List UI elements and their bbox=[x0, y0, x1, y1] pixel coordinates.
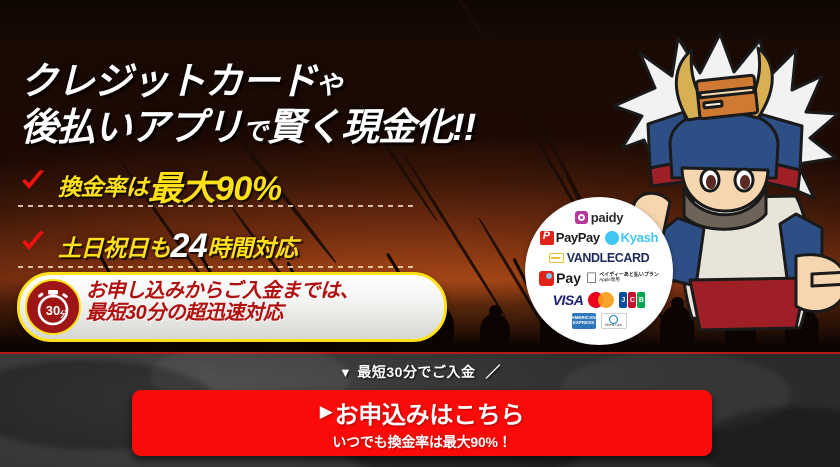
vandlecard-icon bbox=[549, 253, 564, 263]
stopwatch-icon: 30 分 bbox=[25, 279, 81, 335]
bullet-pre: 換金率は bbox=[58, 168, 148, 202]
headline-line-2-small: で bbox=[242, 116, 267, 146]
banner-root: クレジットカードや 後払いアプリで賢く現金化!! 換金率は最大90% 土日祝日も… bbox=[0, 0, 840, 467]
bullet-text: 換金率は最大90% bbox=[58, 163, 282, 207]
bullet-emphasis: 最大90% bbox=[148, 161, 282, 210]
bullet-pre: 土日祝日も bbox=[58, 229, 171, 263]
paidy-label: paidy bbox=[591, 210, 623, 225]
soldier-silhouette bbox=[480, 314, 510, 352]
bullet-emphasis: 24 bbox=[171, 227, 208, 266]
triangle-right-icon: ▶ bbox=[320, 402, 333, 422]
sub-cta-text: ▼最短30分でご入金／ bbox=[0, 361, 840, 382]
headline-line-1-small: や bbox=[316, 70, 341, 100]
amex-label: AMERICAN EXPRESS bbox=[571, 316, 595, 325]
paypay-icon bbox=[540, 231, 554, 245]
headline-line-2-main: 後払いアプリ bbox=[20, 107, 242, 149]
kyash-logo: Kyash bbox=[605, 230, 659, 245]
bullet-item: 換金率は最大90% bbox=[18, 163, 418, 207]
applepay-logo:  ペイディーあと払いプラン Apple専用 bbox=[586, 271, 659, 286]
applepay-sublabel: Apple専用 bbox=[599, 278, 659, 283]
bullet-text: 土日祝日も24時間対応 bbox=[58, 224, 297, 268]
cta-sub-label: いつでも換金率は最大90%！ bbox=[332, 432, 511, 452]
stopwatch-number: 30 bbox=[46, 303, 60, 318]
vandlecard-logo: VANDLECARD bbox=[549, 251, 650, 265]
bullet-divider bbox=[18, 266, 418, 268]
amex-logo: AMERICAN EXPRESS bbox=[572, 313, 596, 329]
check-icon bbox=[20, 230, 46, 256]
vandlecard-label: VANDLECARD bbox=[567, 251, 650, 265]
headline-line-1: クレジットカードや bbox=[20, 62, 475, 104]
diners-label: Diners Club bbox=[605, 324, 622, 327]
bullet-item: 土日祝日も24時間対応 bbox=[18, 224, 418, 268]
paidy-icon bbox=[575, 211, 588, 224]
headline-line-2: 後払いアプリで賢く現金化!! bbox=[20, 108, 475, 150]
pill-line-1: お申し込みからご入金までは、 bbox=[86, 280, 434, 302]
jcb-logo: JCB bbox=[619, 292, 645, 308]
paypay-label: PayPay bbox=[556, 230, 600, 245]
apply-cta-button[interactable]: ▶お申込みはこちら いつでも換金率は最大90%！ bbox=[132, 390, 712, 456]
kyash-label: Kyash bbox=[621, 230, 659, 245]
merpay-logo: Pay bbox=[539, 270, 581, 286]
headline: クレジットカードや 後払いアプリで賢く現金化!! bbox=[20, 62, 475, 150]
merpay-icon bbox=[539, 271, 554, 286]
diners-logo: Diners Club bbox=[601, 313, 627, 329]
apple-icon:  bbox=[586, 271, 597, 286]
merpay-label: Pay bbox=[556, 270, 581, 286]
bullet-post: 時間対応 bbox=[207, 229, 297, 263]
bullet-list: 換金率は最大90% 土日祝日も24時間対応 bbox=[18, 163, 418, 268]
headline-line-2-tail: 賢く現金化!! bbox=[267, 107, 475, 149]
cta-main-row: ▶お申込みはこちら bbox=[320, 395, 524, 430]
pill-text: お申し込みからご入金までは、 最短30分の超迅速対応 bbox=[86, 280, 434, 325]
visa-logo: VISA bbox=[553, 292, 584, 308]
pill-line-2: 最短30分の超迅速対応 bbox=[86, 302, 434, 324]
paidy-logo: paidy bbox=[575, 210, 623, 225]
mastercard-logo bbox=[588, 292, 614, 308]
payment-brands-circle: paidy PayPay Kyash VANDLECARD Pay  ペイディ… bbox=[525, 197, 673, 345]
paypay-logo: PayPay bbox=[540, 230, 600, 245]
triangle-down-icon: ▼ bbox=[339, 365, 352, 380]
hero-section: クレジットカードや 後払いアプリで賢く現金化!! 換金率は最大90% 土日祝日も… bbox=[0, 0, 840, 352]
speed-promise-pill: 30 分 お申し込みからご入金までは、 最短30分の超迅速対応 bbox=[17, 272, 447, 342]
sub-cta-label: 最短30分でご入金 bbox=[357, 364, 475, 380]
stopwatch-unit: 分 bbox=[59, 309, 69, 319]
bullet-divider bbox=[18, 205, 418, 207]
slash-mark: ／ bbox=[485, 364, 501, 381]
kyash-icon bbox=[605, 231, 619, 245]
headline-line-1-main: クレジットカード bbox=[20, 61, 316, 103]
check-icon bbox=[20, 169, 46, 195]
cta-main-label: お申込みはこちら bbox=[335, 395, 525, 430]
